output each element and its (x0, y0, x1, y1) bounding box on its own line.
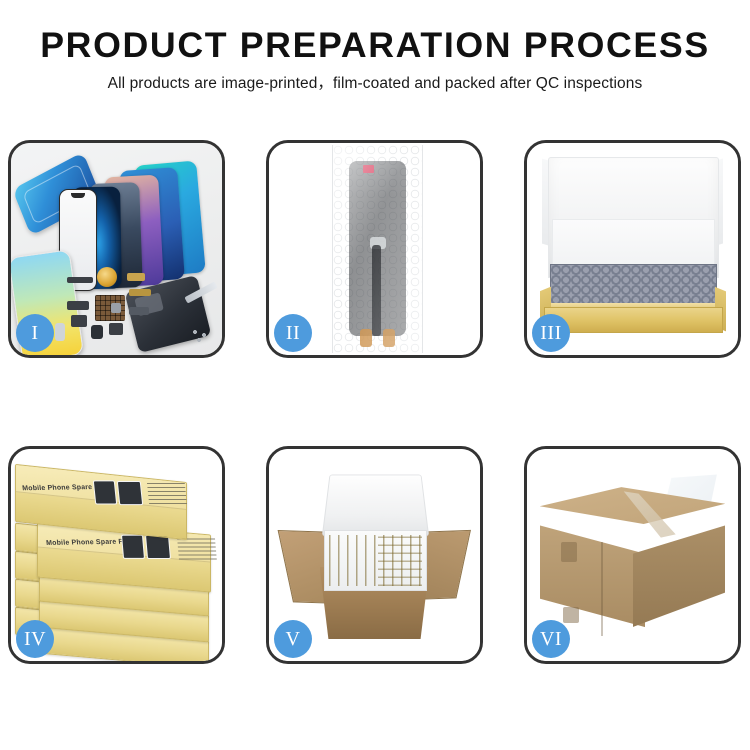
spare-part-graphic (55, 323, 65, 341)
box-art-screen (93, 480, 117, 504)
foam-liner-graphic (324, 530, 427, 591)
spare-part-graphic (129, 289, 151, 296)
box-art-screen (117, 481, 143, 505)
process-step-panel-6[interactable]: VI (524, 446, 741, 664)
foam-lid-graphic (322, 475, 429, 536)
spare-part-graphic (109, 323, 123, 335)
process-step-grid: I II (8, 140, 742, 664)
process-step-panel-1[interactable]: I (8, 140, 225, 358)
step-badge-5: V (274, 620, 312, 658)
spare-part-graphic (129, 307, 149, 315)
box-art-screen (121, 535, 145, 559)
box-art-text-lines (177, 538, 217, 560)
page-subtitle: All products are image-printed，film-coat… (0, 75, 750, 94)
spare-part-graphic (67, 277, 93, 283)
process-step-panel-3[interactable]: III (524, 140, 741, 358)
carton-handle-tab-graphic (563, 607, 579, 623)
step-badge-2: II (274, 314, 312, 352)
process-step-panel-5[interactable]: V (266, 446, 483, 664)
box-tray-front-graphic (544, 307, 723, 333)
gold-boxes-inside-graphic (378, 535, 423, 586)
spare-part-graphic (91, 325, 103, 339)
spare-part-graphic (127, 273, 145, 281)
carton-seam-graphic (601, 542, 603, 635)
step-badge-6: VI (532, 620, 570, 658)
step-badge-1: I (16, 314, 54, 352)
step-badge-3: III (532, 314, 570, 352)
spare-part-graphic (67, 301, 89, 310)
box-art-text-lines (147, 483, 187, 505)
carton-handle-tab-graphic (561, 542, 577, 562)
plastic-gloss-overlay (333, 145, 422, 353)
bubble-wrap-graphic (332, 145, 423, 353)
page-title: PRODUCT PREPARATION PROCESS (0, 28, 750, 65)
step-badge-4: IV (16, 620, 54, 658)
box-art-screen (145, 535, 171, 559)
spare-part-graphic (71, 315, 87, 327)
process-step-panel-4[interactable]: Mobile Phone Spare Parts Mobile Phone Sp… (8, 446, 225, 664)
screws-graphic (192, 329, 214, 343)
spare-part-graphic (111, 303, 121, 313)
header: PRODUCT PREPARATION PROCESS All products… (0, 0, 750, 93)
process-step-panel-2[interactable]: II (266, 140, 483, 358)
coil-part-graphic (97, 267, 117, 287)
